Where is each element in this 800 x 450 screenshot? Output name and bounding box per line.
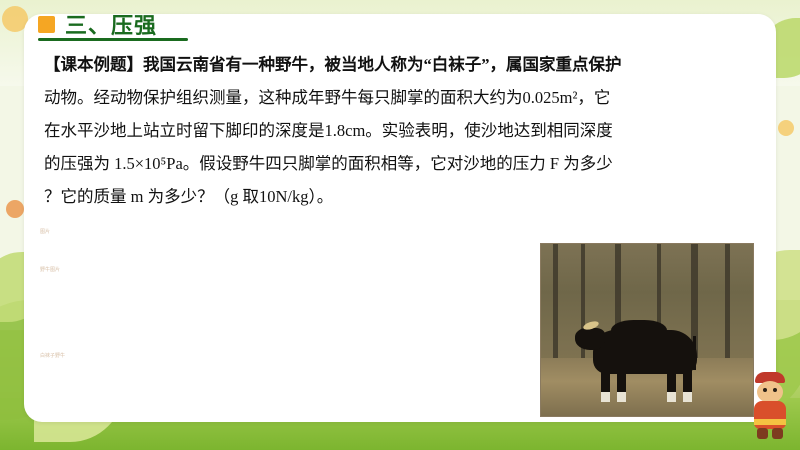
- ghost-text-line-1: 图片: [40, 228, 50, 235]
- bull-hump: [611, 320, 667, 346]
- tree-trunk: [725, 244, 730, 362]
- ghost-text-line-2: 野牛图片: [40, 266, 60, 273]
- bull-leg: [601, 368, 610, 402]
- page-title-text: 三、压强: [65, 8, 157, 40]
- mascot-face: [757, 381, 783, 403]
- mascot-leg: [772, 428, 783, 439]
- ghost-text-line-3: 白袜子野牛: [40, 352, 65, 359]
- problem-text-line: 在水平沙地上站立时留下脚印的深度是1.8cm。实验表明，使沙地达到相同深度: [44, 114, 756, 147]
- mascot-eye: [773, 388, 777, 392]
- white-sock: [667, 392, 676, 402]
- problem-text-line: 的压强为 1.5×10⁵Pa。假设野牛四只脚掌的面积相等，它对沙地的压力 F 为…: [44, 147, 756, 180]
- bull-leg: [617, 368, 626, 402]
- dot-decoration: [6, 200, 24, 218]
- title-underline: [38, 38, 188, 41]
- bull-head: [575, 328, 605, 350]
- slide: 三、压强 图片 野牛图片 白袜子野牛 【课本例题】我国云南省有一种野牛，被当地人…: [0, 0, 800, 450]
- tree-trunk: [553, 244, 558, 362]
- bull-tail: [693, 336, 696, 370]
- white-sock: [683, 392, 692, 402]
- problem-text-line: ？它的质量 m 为多少？（g 取10N/kg）。: [44, 180, 756, 213]
- bull-photo: [540, 243, 754, 417]
- bull-leg: [667, 368, 676, 402]
- white-sock: [601, 392, 610, 402]
- problem-text-line: 【课本例题】我国云南省有一种野牛，被当地人称为“白袜子”，属国家重点保护: [44, 55, 622, 74]
- square-bullet-icon: [38, 16, 55, 33]
- bull-leg: [683, 368, 692, 402]
- white-sock: [617, 392, 626, 402]
- mascot-leg: [757, 428, 768, 439]
- mascot-figure: [748, 372, 792, 440]
- problem-text-line: 动物。经动物保护组织测量，这种成年野牛每只脚掌的面积大约为0.025m²，它: [44, 81, 756, 114]
- page-title: 三、压强: [38, 8, 157, 40]
- problem-text: 【课本例题】我国云南省有一种野牛，被当地人称为“白袜子”，属国家重点保护 动物。…: [44, 48, 756, 213]
- dot-decoration: [778, 120, 794, 136]
- mascot-belt: [754, 419, 786, 425]
- mascot-eye: [763, 388, 767, 392]
